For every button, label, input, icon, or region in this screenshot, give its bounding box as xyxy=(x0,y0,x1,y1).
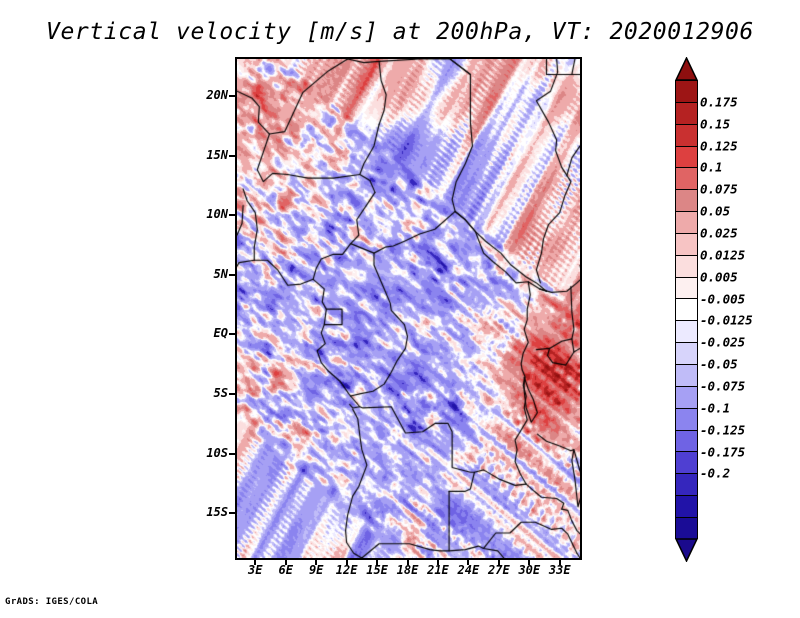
colorbar-bands xyxy=(675,80,698,539)
colorbar-tick-label: -0.2 xyxy=(700,466,730,481)
colorbar-band xyxy=(676,299,697,321)
colorbar-band xyxy=(676,147,697,169)
x-axis-tick-label: 33E xyxy=(549,563,571,577)
colorbar-tick-label: 0.025 xyxy=(700,226,738,241)
colorbar-band xyxy=(676,518,697,540)
colorbar-tick-label: -0.125 xyxy=(700,422,745,437)
x-axis-tick-mark xyxy=(437,559,439,565)
colorbar-band xyxy=(676,431,697,453)
colorbar-tick-label: 0.075 xyxy=(700,182,738,197)
colorbar-tick-label: -0.175 xyxy=(700,444,745,459)
colorbar-band xyxy=(676,496,697,518)
colorbar-band xyxy=(676,321,697,343)
y-axis-tick-mark xyxy=(229,512,235,514)
colorbar-tick-label: 0.15 xyxy=(700,116,730,131)
colorbar-tick-label: 0.0125 xyxy=(700,247,745,262)
colorbar-band xyxy=(676,387,697,409)
x-axis-tick-label: 27E xyxy=(488,563,510,577)
colorbar-tick-label: 0.05 xyxy=(700,204,730,219)
colorbar-band xyxy=(676,343,697,365)
colorbar-bottom-arrow-icon xyxy=(675,538,698,562)
colorbar xyxy=(675,57,698,562)
grads-credit: GrADS: IGES/COLA xyxy=(5,597,98,607)
colorbar-band xyxy=(676,81,697,103)
colorbar-tick-label: 0.1 xyxy=(700,160,723,175)
x-axis-tick-mark xyxy=(498,559,500,565)
colorbar-tick-label: -0.005 xyxy=(700,291,745,306)
colorbar-tick-label: 0.125 xyxy=(700,138,738,153)
x-axis-tick-mark xyxy=(559,559,561,565)
x-axis-tick-label: 21E xyxy=(427,563,449,577)
colorbar-band xyxy=(676,212,697,234)
x-axis-tick-mark xyxy=(407,559,409,565)
colorbar-tick-labels: 0.1750.150.1250.10.0750.050.0250.01250.0… xyxy=(700,0,798,618)
colorbar-band xyxy=(676,256,697,278)
y-axis-tick-mark xyxy=(229,274,235,276)
y-axis-tick-mark xyxy=(229,214,235,216)
x-axis-tick-label: 6E xyxy=(279,563,293,577)
x-axis-tick-label: 9E xyxy=(309,563,323,577)
colorbar-band xyxy=(676,365,697,387)
colorbar-tick-label: 0.005 xyxy=(700,269,738,284)
y-axis-tick-mark xyxy=(229,453,235,455)
colorbar-band xyxy=(676,474,697,496)
colorbar-band xyxy=(676,125,697,147)
colorbar-top-arrow-icon xyxy=(675,57,698,81)
colorbar-tick-label: -0.025 xyxy=(700,335,745,350)
x-axis-tick-label: 18E xyxy=(397,563,419,577)
x-axis-tick-mark xyxy=(467,559,469,565)
colorbar-tick-label: -0.075 xyxy=(700,379,745,394)
colorbar-band xyxy=(676,190,697,212)
colorbar-band xyxy=(676,409,697,431)
x-axis-tick-label: 15E xyxy=(366,563,388,577)
y-axis-tick-mark xyxy=(229,95,235,97)
x-axis-tick-label: 12E xyxy=(336,563,358,577)
colorbar-tick-label: -0.05 xyxy=(700,357,738,372)
x-axis-tick-mark xyxy=(376,559,378,565)
x-axis-tick-label: 30E xyxy=(518,563,540,577)
x-axis-tick-mark xyxy=(285,559,287,565)
x-axis-tick-mark xyxy=(528,559,530,565)
colorbar-tick-label: 0.175 xyxy=(700,94,738,109)
x-axis-tick-label: 3E xyxy=(248,563,262,577)
x-axis-tick-mark xyxy=(254,559,256,565)
y-axis-tick-mark xyxy=(229,393,235,395)
y-axis-tick-mark xyxy=(229,155,235,157)
colorbar-band xyxy=(676,452,697,474)
y-axis-tick-mark xyxy=(229,333,235,335)
colorbar-band xyxy=(676,234,697,256)
colorbar-band xyxy=(676,278,697,300)
colorbar-band xyxy=(676,168,697,190)
colorbar-band xyxy=(676,103,697,125)
colorbar-tick-label: -0.0125 xyxy=(700,313,753,328)
x-axis-tick-mark xyxy=(315,559,317,565)
colorbar-tick-label: -0.1 xyxy=(700,400,730,415)
x-axis-tick-label: 24E xyxy=(458,563,480,577)
x-axis-tick-mark xyxy=(346,559,348,565)
